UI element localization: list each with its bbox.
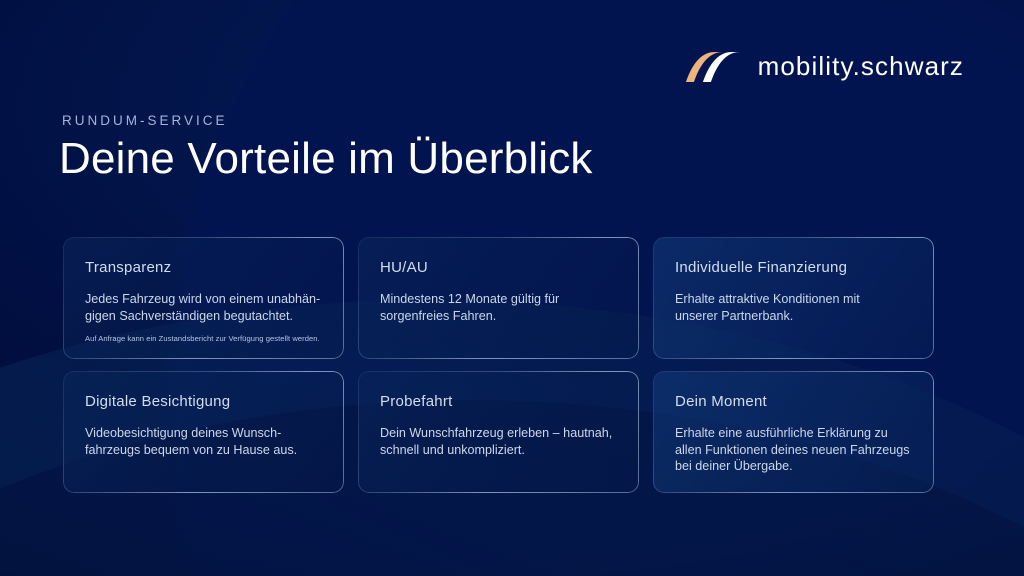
brand-logo[interactable]: mobility.schwarz xyxy=(682,51,964,82)
benefit-card-probefahrt[interactable]: Probefahrt Dein Wunschfahrzeug erleben –… xyxy=(358,371,639,493)
brand-wordmark: mobility.schwarz xyxy=(758,51,964,82)
mobility-schwarz-swoosh-icon xyxy=(682,52,740,82)
benefit-card-individuelle-finanzierung[interactable]: Individuelle Finanzierung Erhalte attrak… xyxy=(653,237,934,359)
card-body: Videobesichtigung deines Wunsch- fahrzeu… xyxy=(85,425,322,458)
card-title: Digitale Besichtigung xyxy=(85,393,322,410)
section-eyebrow: RUNDUM-SERVICE xyxy=(62,113,228,128)
benefits-card-grid: Transparenz Jedes Fahrzeug wird von eine… xyxy=(63,237,935,493)
card-title: Probefahrt xyxy=(380,393,617,410)
card-body: Erhalte eine ausführliche Erklärung zu a… xyxy=(675,425,912,475)
card-title: Dein Moment xyxy=(675,393,912,410)
card-footnote: Auf Anfrage kann ein Zustandsbericht zur… xyxy=(85,333,322,344)
benefit-card-hu-au[interactable]: HU/AU Mindestens 12 Monate gültig für so… xyxy=(358,237,639,359)
card-body: Mindestens 12 Monate gültig für sorgenfr… xyxy=(380,291,617,324)
card-title: Transparenz xyxy=(85,259,322,276)
benefit-card-dein-moment[interactable]: Dein Moment Erhalte eine ausführliche Er… xyxy=(653,371,934,493)
card-title: Individuelle Finanzierung xyxy=(675,259,912,276)
card-body: Dein Wunschfahrzeug erleben – hautnah, s… xyxy=(380,425,617,458)
slide-canvas: mobility.schwarz RUNDUM-SERVICE Deine Vo… xyxy=(0,0,1024,576)
card-title: HU/AU xyxy=(380,259,617,276)
card-body: Erhalte attraktive Konditionen mit unser… xyxy=(675,291,912,324)
benefit-card-digitale-besichtigung[interactable]: Digitale Besichtigung Videobesichtigung … xyxy=(63,371,344,493)
page-title: Deine Vorteile im Überblick xyxy=(59,134,593,184)
benefit-card-transparenz[interactable]: Transparenz Jedes Fahrzeug wird von eine… xyxy=(63,237,344,359)
card-body: Jedes Fahrzeug wird von einem unabhän- g… xyxy=(85,291,322,324)
